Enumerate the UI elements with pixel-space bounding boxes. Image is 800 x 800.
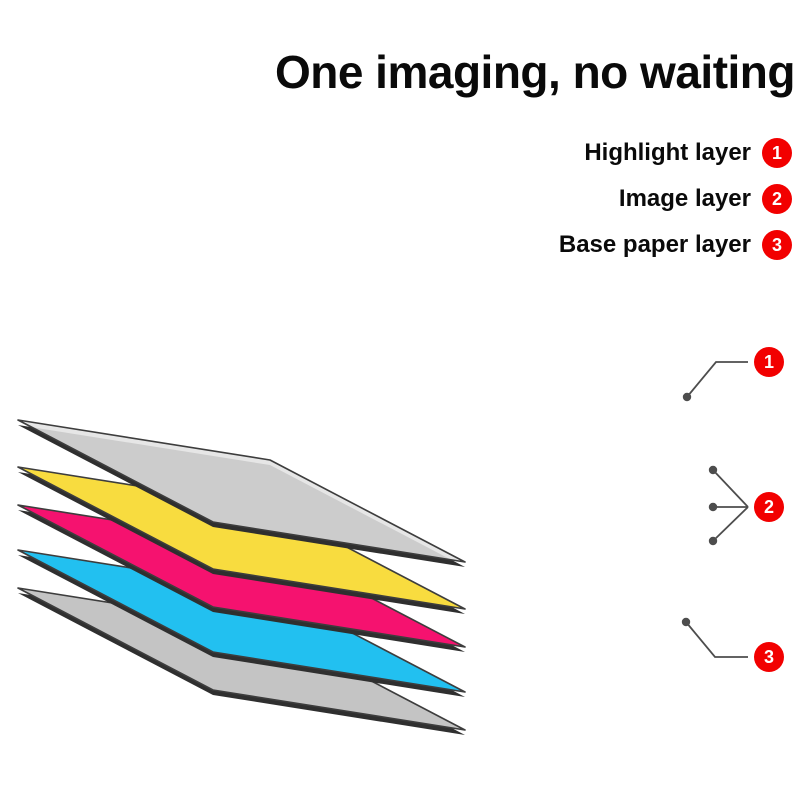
callout-leader-3 [682, 618, 748, 657]
callout-leader-1 [683, 362, 748, 401]
callout-badge-1: 1 [754, 347, 784, 377]
callout-badge-3: 3 [754, 642, 784, 672]
layer-stack-illustration [0, 0, 800, 800]
callout-leader-2 [709, 466, 748, 545]
callout-badge-2: 2 [754, 492, 784, 522]
diagram-canvas: One imaging, no waiting Highlight layer … [0, 0, 800, 800]
